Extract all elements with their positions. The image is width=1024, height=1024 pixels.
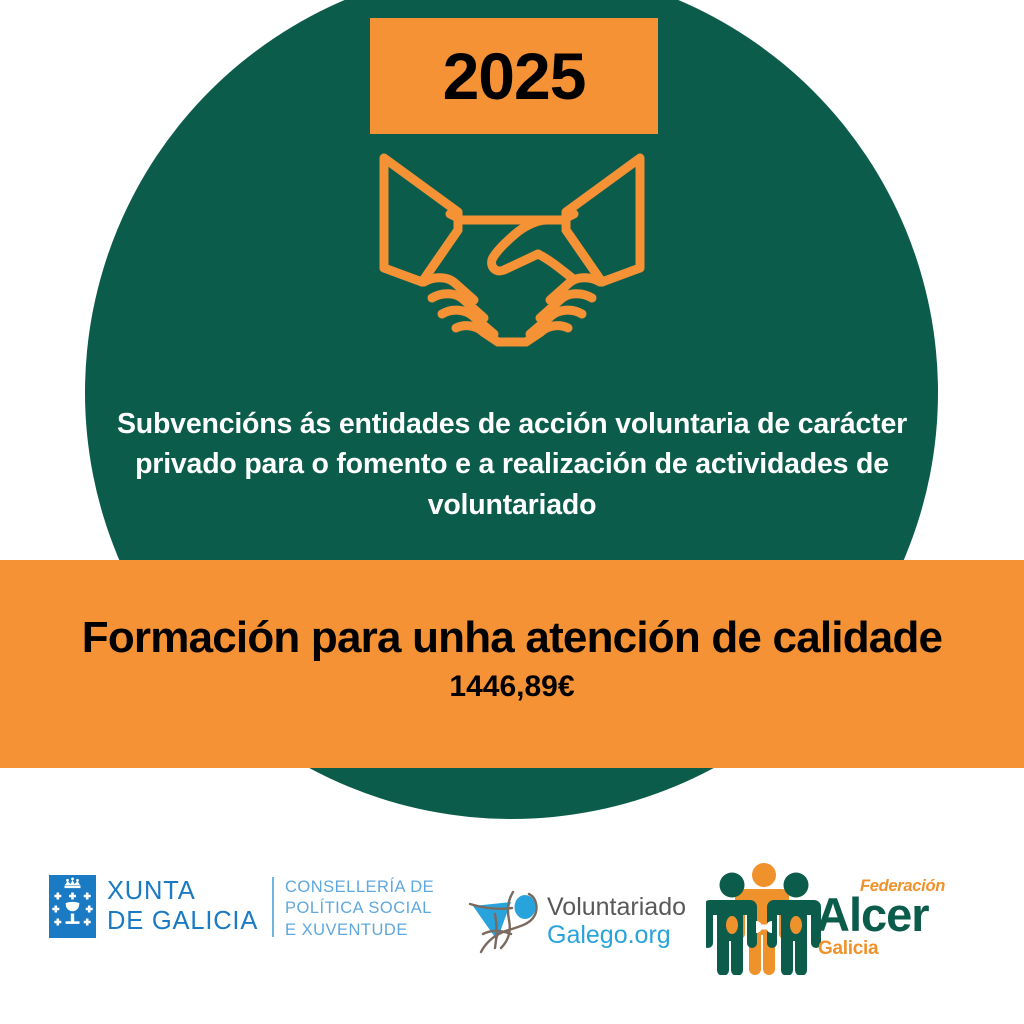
galicia-coat-of-arms-icon — [49, 875, 96, 938]
poster-canvas: 2025 — [0, 0, 1024, 1024]
logo-voluntariado-galego: Voluntariado Galego.org — [467, 888, 686, 954]
logo-alcer-galicia: Federación Alcer Galicia — [706, 859, 936, 975]
alcer-galicia-label: Galicia — [818, 938, 878, 960]
conselleria-line-2: POLÍTICA SOCIAL — [285, 898, 434, 919]
xunta-line-2: DE GALICIA — [107, 907, 258, 936]
handshake-icon — [362, 142, 662, 347]
voluntariado-wordmark: Voluntariado Galego.org — [547, 893, 686, 949]
xunta-wordmark: XUNTA DE GALICIA — [107, 877, 258, 935]
footer-logos: XUNTA DE GALICIA CONSELLERÍA DE POLÍTICA… — [0, 855, 1024, 985]
voluntariado-person-icon — [467, 888, 543, 954]
banner-amount: 1446,89€ — [0, 672, 1024, 702]
alcer-three-people-icon — [706, 859, 822, 975]
logo-conselleria: CONSELLERÍA DE POLÍTICA SOCIAL E XUVENTU… — [285, 877, 434, 941]
circle-description: Subvencións ás entidades de acción volun… — [112, 404, 912, 525]
alcer-wordmark: Federación Alcer Galicia — [816, 877, 956, 967]
year-label: 2025 — [443, 43, 586, 109]
xunta-line-1: XUNTA — [107, 877, 258, 906]
footer-divider — [272, 877, 274, 937]
logo-xunta-de-galicia: XUNTA DE GALICIA — [49, 875, 258, 938]
banner-title: Formación para unha atención de calidade — [0, 616, 1024, 660]
orange-banner — [0, 560, 1024, 768]
year-badge: 2025 — [370, 18, 658, 134]
voluntariado-line-2: Galego.org — [547, 921, 686, 949]
conselleria-line-3: E XUVENTUDE — [285, 920, 434, 941]
alcer-main-label: Alcer — [816, 891, 929, 938]
conselleria-line-1: CONSELLERÍA DE — [285, 877, 434, 898]
voluntariado-line-1: Voluntariado — [547, 893, 686, 921]
